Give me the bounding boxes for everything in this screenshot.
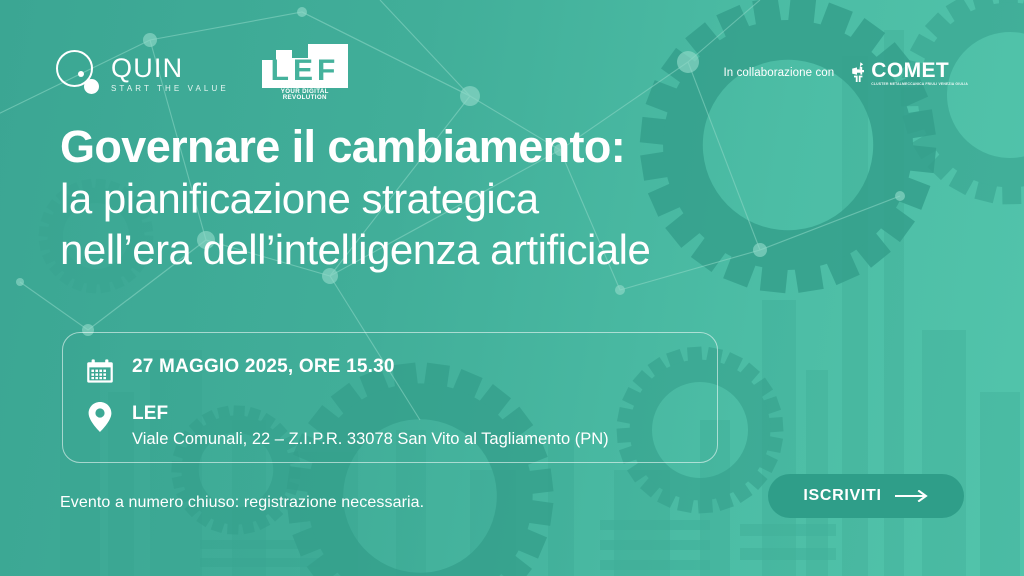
comet-tagline: CLUSTER METALMECCANICA FRIULI VENEZIA GI… xyxy=(871,83,968,87)
event-date-text: 27 MAGGIO 2025, ORE 15.30 xyxy=(132,357,395,378)
registration-note: Evento a numero chiuso: registrazione ne… xyxy=(60,494,424,512)
collaboration-block: In collaborazione con COMET CLUSTER META… xyxy=(724,60,969,87)
lef-factory-icon: LEF xyxy=(262,44,348,88)
headline-line-3: nell’era dell’intelligenza artificiale xyxy=(60,229,650,271)
quin-tagline: START THE VALUE xyxy=(111,85,229,93)
quin-wordmark: QUIN xyxy=(111,55,229,82)
event-venue-address: Viale Comunali, 22 – Z.I.P.R. 33078 San … xyxy=(132,429,609,450)
headline-block: Governare il cambiamento: la pianificazi… xyxy=(60,124,650,271)
calendar-icon xyxy=(85,356,115,386)
headline-line-2: la pianificazione strategica xyxy=(60,178,650,220)
quin-circle-dot-icon xyxy=(56,50,102,96)
lef-logo: LEF YOUR DIGITAL REVOLUTION xyxy=(262,44,348,102)
collaboration-label: In collaborazione con xyxy=(724,67,835,79)
lef-tagline: YOUR DIGITAL REVOLUTION xyxy=(262,89,348,101)
comet-logo: COMET CLUSTER METALMECCANICA FRIULI VENE… xyxy=(850,60,968,87)
comet-gear-icon xyxy=(850,61,869,83)
arrow-right-icon xyxy=(895,490,929,502)
quin-logo: QUIN START THE VALUE xyxy=(56,50,229,96)
headline-line-1: Governare il cambiamento: xyxy=(60,124,650,169)
event-info-card: 27 MAGGIO 2025, ORE 15.30 LEF Viale Comu… xyxy=(62,332,718,463)
comet-wordmark: COMET xyxy=(871,60,968,81)
event-location-row: LEF Viale Comunali, 22 – Z.I.P.R. 33078 … xyxy=(85,402,717,450)
svg-text:LEF: LEF xyxy=(270,54,339,87)
map-pin-icon xyxy=(85,402,115,432)
event-venue-name: LEF xyxy=(132,403,609,425)
event-date-row: 27 MAGGIO 2025, ORE 15.30 xyxy=(85,356,717,386)
banner-header: QUIN START THE VALUE LEF YOUR DIGITAL RE… xyxy=(56,44,968,102)
iscriviti-button-label: ISCRIVITI xyxy=(803,487,881,505)
event-banner: QUIN START THE VALUE LEF YOUR DIGITAL RE… xyxy=(0,0,1024,576)
iscriviti-button[interactable]: ISCRIVITI xyxy=(768,474,964,518)
